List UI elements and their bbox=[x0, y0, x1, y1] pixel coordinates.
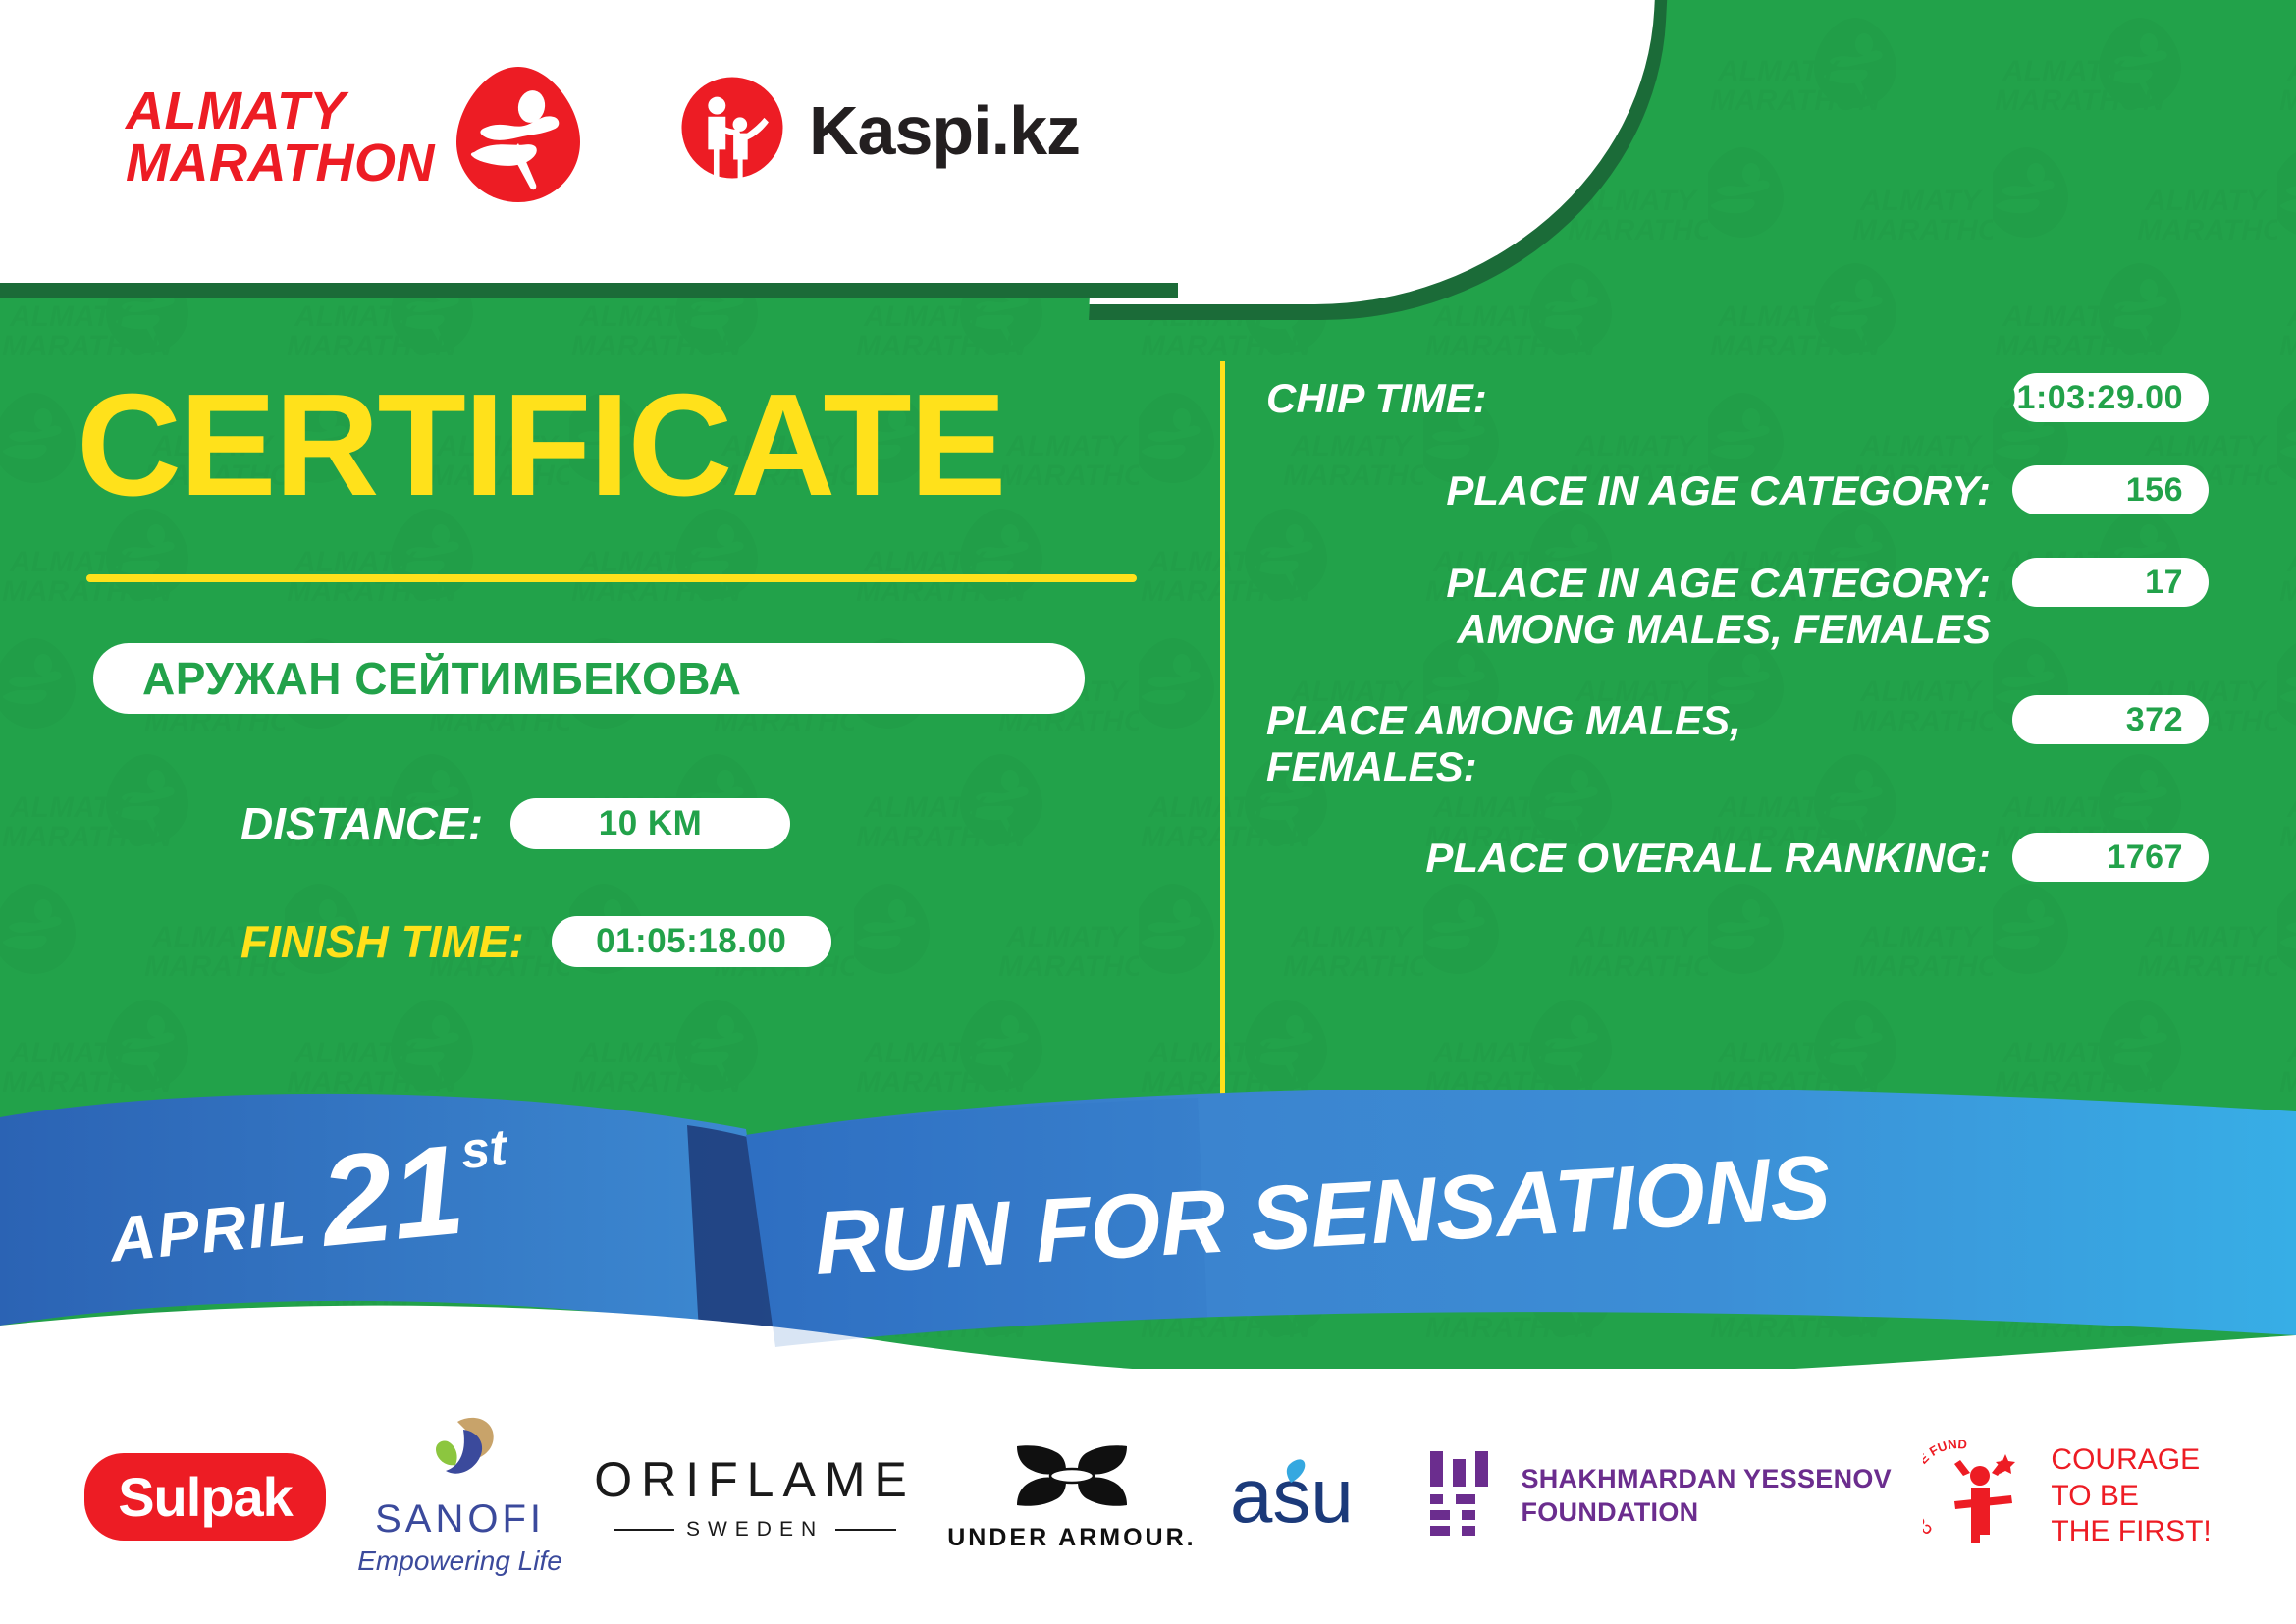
finish-time-pill: 01:05:18.00 bbox=[552, 916, 831, 967]
sanofi-bird-icon bbox=[418, 1416, 503, 1493]
oriflame-rule-right bbox=[835, 1529, 896, 1531]
under-armour-icon bbox=[1009, 1440, 1135, 1516]
finish-time-value: 01:05:18.00 bbox=[596, 922, 786, 961]
sponsor-yessenov: SHAKHMARDAN YESSENOV FOUNDATION bbox=[1426, 1449, 1892, 1544]
runner-teardrop-icon bbox=[445, 61, 592, 213]
stat-pill: 01:03:29.00 bbox=[2012, 373, 2209, 422]
page-title: CERTIFICATE bbox=[77, 373, 1004, 518]
vertical-divider bbox=[1220, 361, 1225, 1096]
oriflame-sub: SWEDEN bbox=[594, 1518, 916, 1542]
ribbon-day-suffix: st bbox=[458, 1118, 509, 1181]
kaspi-wordmark: Kaspi.kz bbox=[809, 91, 1080, 170]
sponsor-sanofi: SANOFI Empowering Life bbox=[357, 1416, 562, 1577]
sanofi-wordmark: SANOFI bbox=[375, 1497, 545, 1542]
sponsor-courage-to-be-the-first: CORPORATE FUND COURAGE TO BE THE FIRST! bbox=[1923, 1440, 2211, 1553]
kaspi-people-circle-icon bbox=[677, 73, 787, 188]
yessenov-bars-icon bbox=[1426, 1449, 1501, 1544]
oriflame-sweden: SWEDEN bbox=[686, 1518, 824, 1542]
courage-line3: THE FIRST! bbox=[2051, 1514, 2211, 1550]
stat-pill: 17 bbox=[2012, 558, 2209, 607]
sponsor-under-armour: UNDER ARMOUR. bbox=[947, 1440, 1196, 1552]
under-armour-wordmark: UNDER ARMOUR. bbox=[947, 1524, 1196, 1552]
sponsor-asu: asu bbox=[1228, 1453, 1395, 1540]
courage-wordmark: COURAGE TO BE THE FIRST! bbox=[2051, 1442, 2211, 1550]
oriflame-wordmark: ORIFLAME bbox=[594, 1451, 916, 1508]
stat-label: PLACE AMONG MALES,FEMALES: bbox=[1266, 695, 1991, 789]
finish-time-label: FINISH TIME: bbox=[240, 915, 524, 968]
almaty-marathon-logo: ALMATY MARATHON bbox=[126, 61, 592, 213]
almaty-marathon-line1: ALMATY bbox=[126, 85, 435, 137]
stat-label: PLACE OVERALL RANKING: bbox=[1266, 833, 1991, 881]
distance-pill: 10 KM bbox=[510, 798, 790, 849]
stat-row: PLACE OVERALL RANKING:1767 bbox=[1266, 833, 2209, 882]
stat-row: CHIP TIME:01:03:29.00 bbox=[1266, 373, 2209, 422]
sanofi-tagline: Empowering Life bbox=[357, 1545, 562, 1577]
participant-name-field: АРУЖАН СЕЙТИМБЕКОВА bbox=[93, 643, 1085, 714]
sponsor-sulpak: Sulpak bbox=[84, 1453, 326, 1541]
kaspi-logo: Kaspi.kz bbox=[677, 73, 1080, 188]
stat-label: CHIP TIME: bbox=[1266, 373, 1991, 421]
stat-pill: 372 bbox=[2012, 695, 2209, 744]
yessenov-wordmark: SHAKHMARDAN YESSENOV FOUNDATION bbox=[1521, 1463, 1892, 1530]
stat-value: 372 bbox=[2126, 701, 2209, 739]
header-white-curve bbox=[1090, 0, 1660, 304]
stats-list: CHIP TIME:01:03:29.00PLACE IN AGE CATEGO… bbox=[1266, 373, 2209, 925]
stat-label: PLACE IN AGE CATEGORY:AMONG MALES, FEMAL… bbox=[1266, 558, 1991, 652]
title-underline bbox=[86, 574, 1137, 582]
svg-text:CORPORATE FUND: CORPORATE FUND bbox=[1923, 1440, 1967, 1538]
yessenov-line1: SHAKHMARDAN YESSENOV bbox=[1521, 1463, 1892, 1496]
asu-logo: asu bbox=[1228, 1453, 1395, 1540]
yessenov-line2: FOUNDATION bbox=[1521, 1496, 1892, 1530]
ribbon-day: 21 bbox=[316, 1134, 468, 1256]
header-dark-underline bbox=[0, 283, 1178, 298]
stat-row: PLACE IN AGE CATEGORY:AMONG MALES, FEMAL… bbox=[1266, 558, 2209, 652]
stat-pill: 1767 bbox=[2012, 833, 2209, 882]
stat-pill: 156 bbox=[2012, 465, 2209, 514]
courage-line2: TO BE bbox=[2051, 1479, 2211, 1515]
sulpak-wordmark: Sulpak bbox=[118, 1465, 293, 1529]
courage-runner-icon: CORPORATE FUND bbox=[1923, 1440, 2037, 1553]
certificate-canvas: ALMATY MARATHON Kas bbox=[0, 0, 2296, 1624]
stat-value: 156 bbox=[2126, 471, 2209, 510]
stat-value: 01:03:29.00 bbox=[1998, 379, 2209, 417]
sponsor-oriflame: ORIFLAME SWEDEN bbox=[594, 1451, 916, 1542]
distance-label: DISTANCE: bbox=[240, 797, 483, 850]
finish-time-row: FINISH TIME: 01:05:18.00 bbox=[240, 915, 831, 968]
courage-line1: COURAGE bbox=[2051, 1442, 2211, 1479]
stat-row: PLACE IN AGE CATEGORY:156 bbox=[1266, 465, 2209, 514]
distance-value: 10 KM bbox=[599, 804, 703, 843]
almaty-marathon-line2: MARATHON bbox=[126, 137, 435, 189]
distance-row: DISTANCE: 10 KM bbox=[240, 797, 790, 850]
participant-name-value: АРУЖАН СЕЙТИМБЕКОВА bbox=[93, 652, 741, 705]
stat-value: 1767 bbox=[2107, 839, 2209, 877]
oriflame-rule-left bbox=[614, 1529, 674, 1531]
stat-label: PLACE IN AGE CATEGORY: bbox=[1266, 465, 1991, 514]
almaty-marathon-wordmark: ALMATY MARATHON bbox=[126, 85, 435, 189]
sponsor-strip: Sulpak SANOFI Empowering Life ORIFLAME S… bbox=[0, 1369, 2296, 1624]
stat-row: PLACE AMONG MALES,FEMALES:372 bbox=[1266, 695, 2209, 789]
stat-value: 17 bbox=[2145, 564, 2209, 602]
